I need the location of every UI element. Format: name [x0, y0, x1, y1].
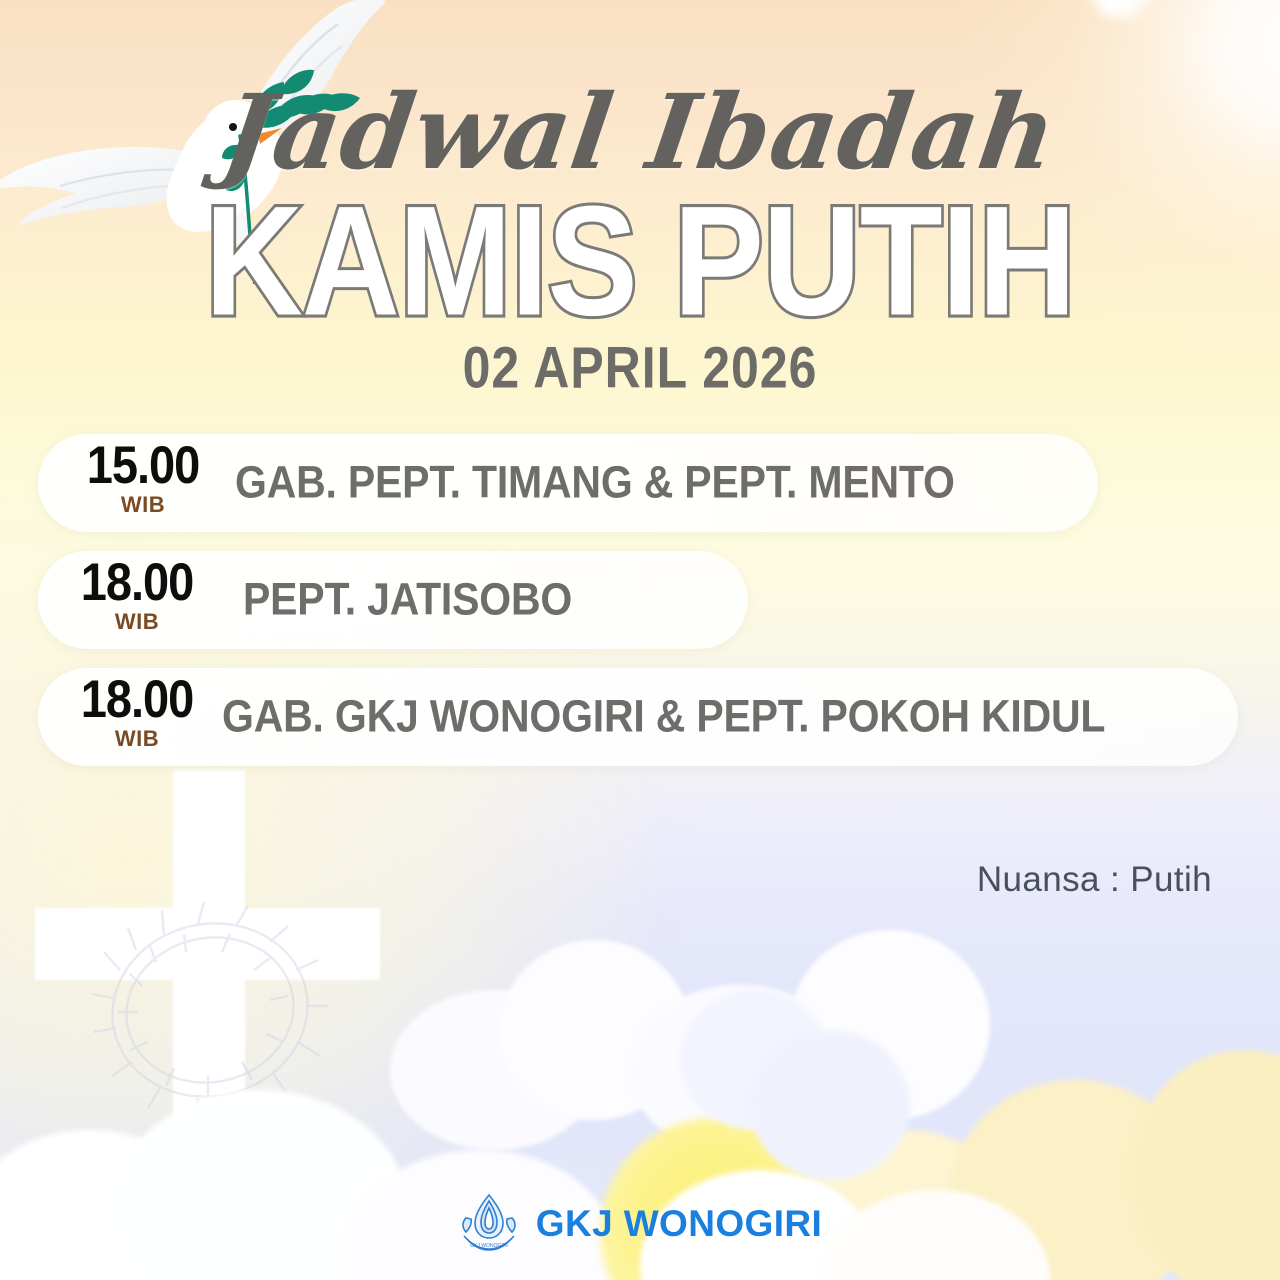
svg-text:GKJ WONOGIRI: GKJ WONOGIRI: [470, 1243, 508, 1249]
schedule-time-block: 18.00 WIB: [72, 676, 202, 750]
page-title: KAMIS PUTIH: [0, 184, 1280, 340]
gkj-wonogiri-logo-icon: GKJ WONOGIRI: [458, 1192, 520, 1256]
schedule-timezone: WIB: [78, 494, 208, 516]
nuansa-note: Nuansa : Putih: [977, 860, 1212, 900]
schedule-timezone: WIB: [72, 728, 202, 750]
schedule-row: 15.00 WIB GAB. PEPT. TIMANG & PEPT. MENT…: [0, 430, 1280, 545]
poster-canvas: Jadwal Ibadah KAMIS PUTIH 02 APRIL 2026 …: [0, 0, 1280, 1280]
schedule-time: 15.00: [78, 439, 208, 491]
schedule-row: 18.00 WIB GAB. GKJ WONOGIRI & PEPT. POKO…: [0, 664, 1280, 779]
schedule-time: 18.00: [72, 556, 202, 608]
crown-of-thorns-icon: [90, 900, 330, 1120]
footer-brand-name: GKJ WONOGIRI: [536, 1203, 822, 1245]
schedule-time: 18.00: [72, 673, 202, 725]
schedule-time-block: 15.00 WIB: [78, 442, 208, 516]
schedule-row: 18.00 WIB PEPT. JATISOBO: [0, 547, 1280, 662]
event-date: 02 APRIL 2026: [0, 334, 1280, 401]
schedule-timezone: WIB: [72, 611, 202, 633]
schedule-list: 15.00 WIB GAB. PEPT. TIMANG & PEPT. MENT…: [0, 430, 1280, 781]
footer: GKJ WONOGIRI GKJ WONOGIRI: [0, 1192, 1280, 1256]
schedule-time-block: 18.00 WIB: [72, 559, 202, 633]
schedule-event-name: PEPT. JATISOBO: [243, 574, 572, 626]
schedule-event-name: GAB. PEPT. TIMANG & PEPT. MENTO: [235, 457, 955, 509]
schedule-event-name: GAB. GKJ WONOGIRI & PEPT. POKOH KIDUL: [222, 691, 1105, 743]
